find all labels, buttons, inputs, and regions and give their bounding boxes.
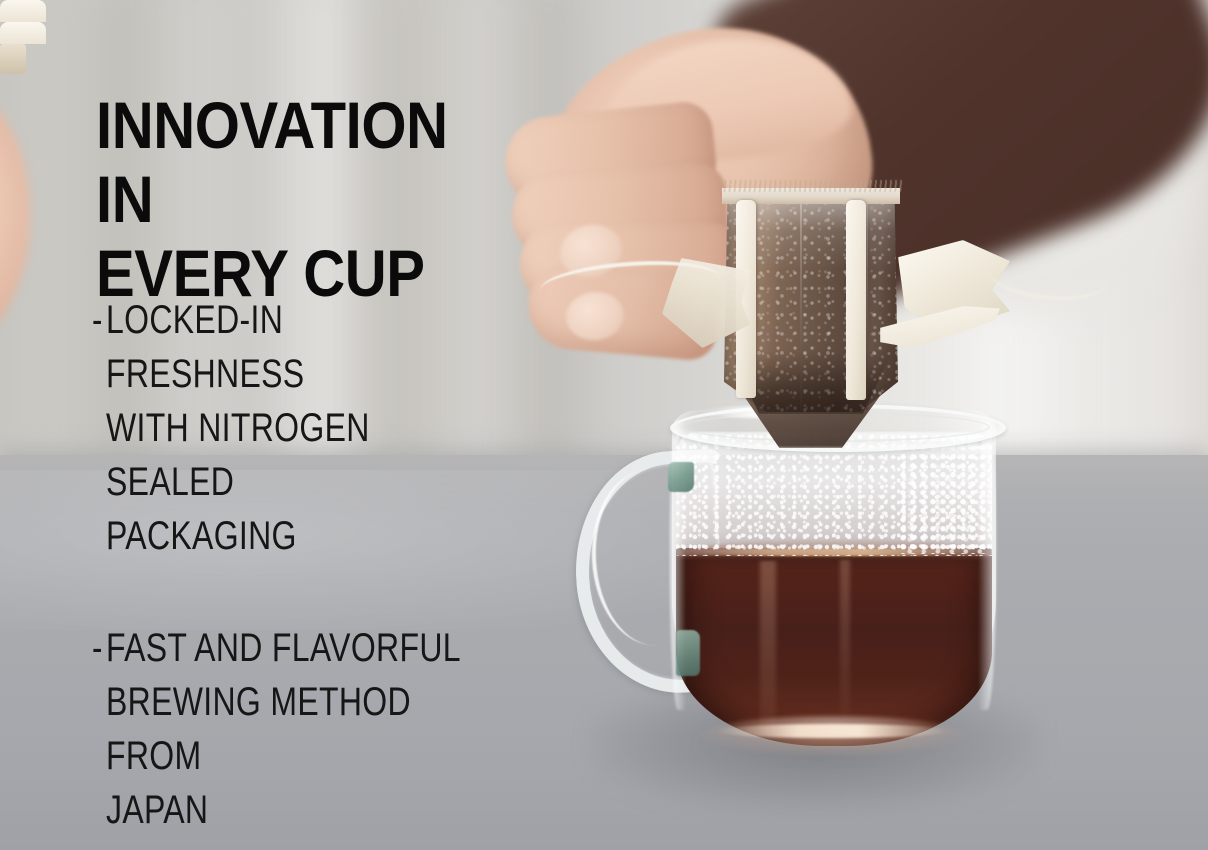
list-item: - FAST AND FLAVORFUL BREWING METHOD FROM… xyxy=(92,621,552,837)
bag-paper-strip-right xyxy=(986,246,1110,305)
marketing-copy: INNOVATION IN EVERY CUP - LOCKED-IN FRES… xyxy=(0,0,560,850)
bullet-dash-icon: - xyxy=(92,293,102,347)
promo-image-canvas: INNOVATION IN EVERY CUP - LOCKED-IN FRES… xyxy=(0,0,1208,850)
bag-fold-crease xyxy=(866,196,868,410)
bullet-dash-icon: - xyxy=(92,621,102,675)
list-item: - LOCKED-IN FRESHNESS WITH NITROGEN SEAL… xyxy=(92,293,552,563)
bullet-text: LOCKED-IN FRESHNESS WITH NITROGEN SEALED… xyxy=(106,293,463,563)
bag-wing-handle-right-tail xyxy=(880,306,1000,348)
bag-serrated-edge xyxy=(720,180,902,192)
page-title: INNOVATION IN EVERY CUP xyxy=(96,88,474,310)
bag-paper-strut-right xyxy=(846,200,866,400)
feature-bullet-list: - LOCKED-IN FRESHNESS WITH NITROGEN SEAL… xyxy=(92,293,552,837)
bullet-text: FAST AND FLAVORFUL BREWING METHOD FROM J… xyxy=(106,621,463,837)
bag-fold-crease xyxy=(800,196,802,410)
